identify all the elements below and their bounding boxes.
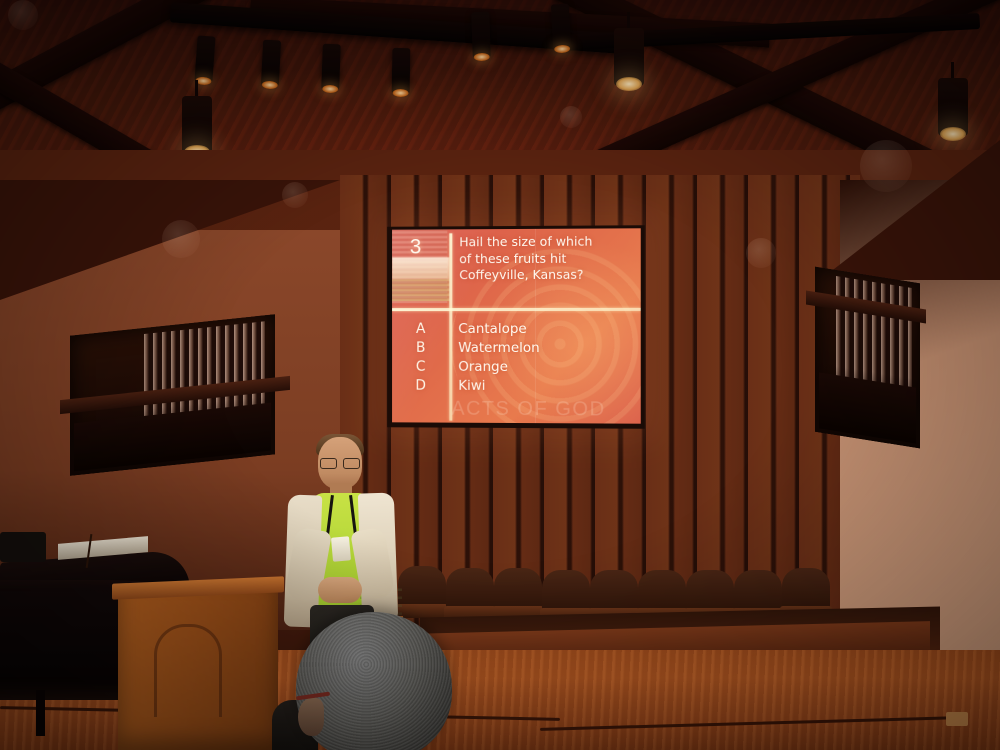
pulpit-arch-detail	[154, 624, 222, 717]
pendant-light	[182, 96, 212, 154]
wooden-pulpit	[118, 588, 278, 750]
stage-spotlight	[194, 35, 215, 82]
piano-leg	[36, 690, 45, 736]
question-line-2: of these fruits hit	[459, 250, 636, 267]
question-line-3: Coffeyville, Kansas?	[459, 267, 636, 284]
name-badge	[331, 536, 351, 561]
audience-member-ear	[298, 698, 324, 736]
option-text-a: Cantalope	[458, 321, 526, 337]
sanctuary-photo: 3 Hail the size of which of these fruits…	[0, 0, 1000, 750]
cable-connector	[946, 712, 968, 726]
stage-spotlight	[321, 44, 341, 91]
presenter-hands	[318, 577, 362, 603]
right-wall-top-shadow	[820, 140, 1000, 280]
option-text-c: Orange	[458, 359, 508, 375]
option-letter-d: D	[392, 378, 449, 394]
answer-options: A Cantalope B Watermelon C Orange D Kiwi	[392, 321, 641, 398]
slide-light-stripe	[392, 257, 449, 279]
option-text-b: Watermelon	[458, 340, 539, 356]
stage-spotlight	[392, 48, 411, 94]
pendant-light	[938, 78, 968, 136]
slide-watermark: ACTS OF GOD	[451, 398, 640, 422]
option-letter-b: B	[392, 340, 449, 356]
option-text-d: Kiwi	[458, 378, 485, 394]
stage-spotlight	[471, 12, 491, 59]
option-letter-c: C	[392, 359, 449, 375]
screen-panel-seam	[535, 229, 536, 423]
option-row-d: D Kiwi	[392, 378, 641, 398]
monitor-screen	[0, 532, 46, 562]
stage-spotlight	[551, 4, 571, 51]
trivia-slide: 3 Hail the size of which of these fruits…	[392, 228, 641, 423]
projection-screen: 3 Hail the size of which of these fruits…	[387, 225, 645, 429]
stage-spotlight	[261, 40, 281, 87]
option-row-c: C Orange	[392, 359, 641, 379]
slide-gold-stripe	[392, 279, 449, 301]
glasses-icon	[320, 458, 360, 467]
question-line-1: Hail the size of which	[459, 233, 636, 251]
pendant-light	[614, 28, 644, 86]
question-text: Hail the size of which of these fruits h…	[459, 233, 636, 284]
option-row-a: A Cantalope	[392, 321, 641, 340]
slide-horizontal-rule	[392, 308, 641, 311]
question-number: 3	[410, 236, 422, 260]
option-letter-a: A	[392, 321, 449, 337]
option-row-b: B Watermelon	[392, 340, 641, 359]
left-wall-shadow	[0, 180, 340, 300]
